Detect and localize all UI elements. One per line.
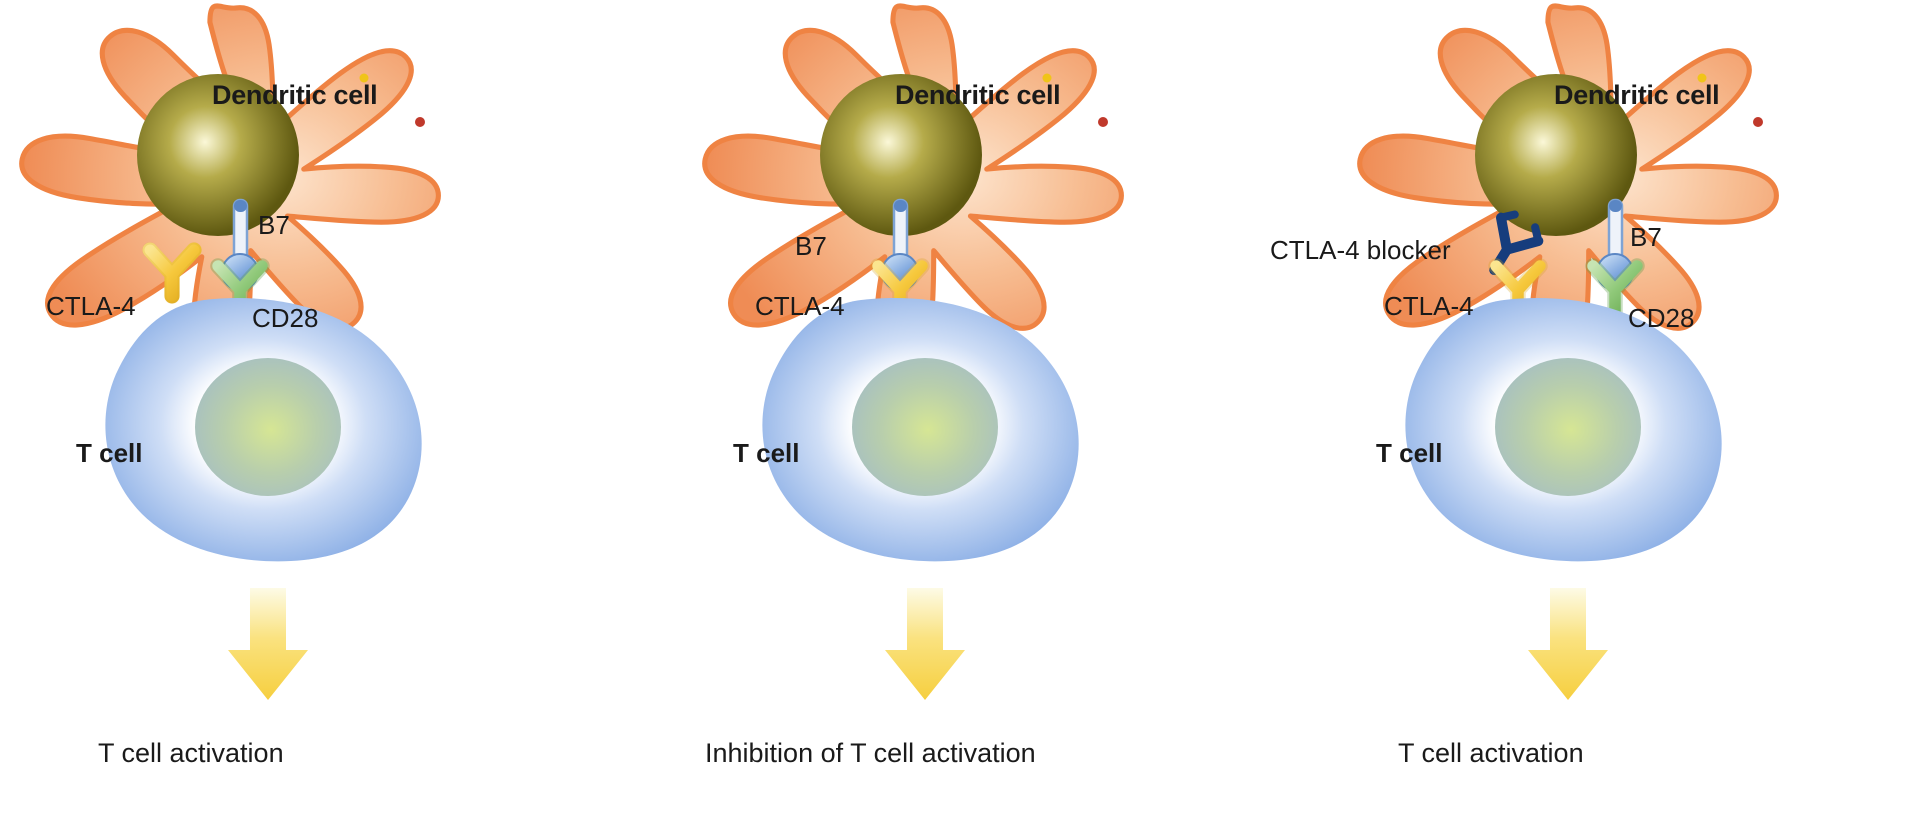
panel-caption: T cell activation [1398, 740, 1584, 767]
dendritic-cell-label: Dendritic cell [212, 82, 377, 109]
cd28-label: CD28 [1628, 305, 1694, 331]
t-cell-nucleus [852, 358, 998, 496]
panel-middle-graphics [637, 0, 1274, 840]
panel-right: Dendritic cell CTLA-4 blocker CTLA-4 B7 … [1276, 0, 1913, 840]
dendritic-granule-red [1098, 117, 1108, 127]
t-cell-nucleus [1495, 358, 1641, 496]
dendritic-granule-red [415, 117, 425, 127]
ctla4-label: CTLA-4 [755, 293, 845, 319]
t-cell-nucleus [195, 358, 341, 496]
b7-label: B7 [1630, 224, 1662, 250]
ctla4-blocker-label: CTLA-4 blocker [1270, 237, 1451, 263]
ctla4-label: CTLA-4 [46, 293, 136, 319]
down-arrow [228, 588, 308, 700]
panel-caption: Inhibition of T cell activation [705, 740, 1036, 767]
figure-canvas: Dendritic cell B7 CTLA-4 CD28 T cell T c… [0, 0, 1913, 840]
dendritic-granule-red [1753, 117, 1763, 127]
panel-left-graphics [0, 0, 637, 840]
panel-middle: Dendritic cell B7 CTLA-4 T cell Inhibiti… [637, 0, 1274, 840]
panel-right-graphics [1276, 0, 1913, 840]
panel-caption: T cell activation [98, 740, 284, 767]
panel-left: Dendritic cell B7 CTLA-4 CD28 T cell T c… [0, 0, 637, 840]
cd28-label: CD28 [252, 305, 318, 331]
t-cell-label: T cell [1376, 440, 1442, 466]
down-arrow [885, 588, 965, 700]
t-cell-label: T cell [76, 440, 142, 466]
down-arrow [1528, 588, 1608, 700]
b7-label: B7 [795, 233, 827, 259]
t-cell-label: T cell [733, 440, 799, 466]
dendritic-cell-label: Dendritic cell [895, 82, 1060, 109]
dendritic-cell-label: Dendritic cell [1554, 82, 1719, 109]
ctla4-label: CTLA-4 [1384, 293, 1474, 319]
b7-label: B7 [258, 212, 290, 238]
